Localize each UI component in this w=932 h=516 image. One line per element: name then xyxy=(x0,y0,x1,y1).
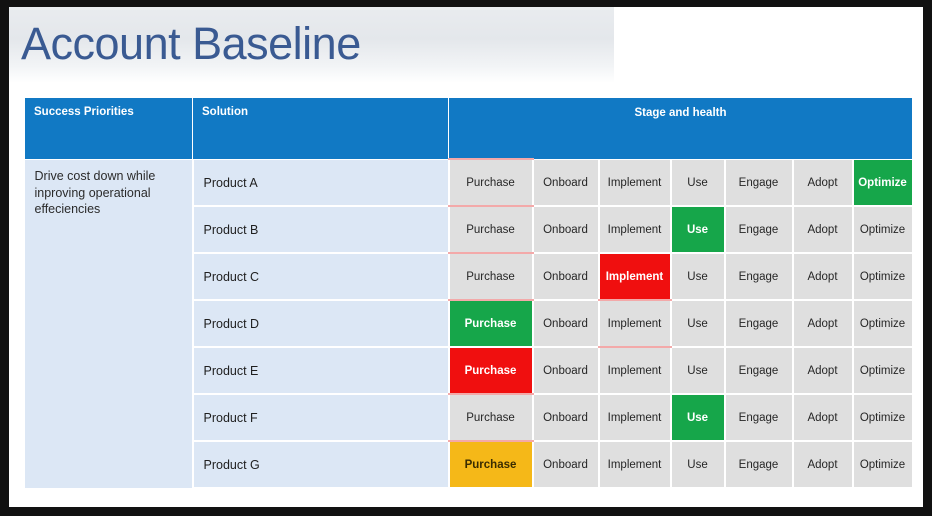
solution-cell[interactable]: Product G xyxy=(193,441,449,488)
stage-cell-use[interactable]: Use xyxy=(671,253,725,300)
stage-cell-adopt[interactable]: Adopt xyxy=(793,160,853,207)
stage-cell-implement[interactable]: Implement xyxy=(599,300,671,347)
account-baseline-table: Success Priorities Solution Stage and he… xyxy=(24,97,914,489)
stage-cell-onboard[interactable]: Onboard xyxy=(533,441,599,488)
stage-cell-adopt[interactable]: Adopt xyxy=(793,394,853,441)
solution-cell[interactable]: Product E xyxy=(193,347,449,394)
stage-cell-adopt[interactable]: Adopt xyxy=(793,253,853,300)
stage-cell-optimize[interactable]: Optimize xyxy=(853,300,913,347)
solution-cell[interactable]: Product D xyxy=(193,300,449,347)
stage-cell-use[interactable]: Use xyxy=(671,441,725,488)
solution-cell[interactable]: Product A xyxy=(193,160,449,207)
stage-cell-onboard[interactable]: Onboard xyxy=(533,300,599,347)
stage-cell-purchase[interactable]: Purchase xyxy=(449,160,533,207)
stage-cell-engage[interactable]: Engage xyxy=(725,347,793,394)
stage-cell-implement[interactable]: Implement xyxy=(599,206,671,253)
stage-cell-adopt[interactable]: Adopt xyxy=(793,441,853,488)
stage-cell-onboard[interactable]: Onboard xyxy=(533,206,599,253)
stage-cell-onboard[interactable]: Onboard xyxy=(533,160,599,207)
stage-cell-onboard[interactable]: Onboard xyxy=(533,253,599,300)
page-title: Account Baseline xyxy=(21,13,361,75)
stage-cell-engage[interactable]: Engage xyxy=(725,160,793,207)
stage-cell-optimize[interactable]: Optimize xyxy=(853,347,913,394)
stage-cell-adopt[interactable]: Adopt xyxy=(793,347,853,394)
stage-cell-optimize[interactable]: Optimize xyxy=(853,441,913,488)
stage-cell-purchase[interactable]: Purchase xyxy=(449,206,533,253)
stage-cell-optimize-green[interactable]: Optimize xyxy=(853,160,913,207)
table-row: Drive cost down while inproving operatio… xyxy=(25,160,913,207)
header-stage-and-health: Stage and health xyxy=(449,98,913,160)
stage-cell-implement[interactable]: Implement xyxy=(599,394,671,441)
stage-cell-engage[interactable]: Engage xyxy=(725,441,793,488)
stage-cell-engage[interactable]: Engage xyxy=(725,394,793,441)
stage-cell-onboard[interactable]: Onboard xyxy=(533,394,599,441)
stage-cell-use-green[interactable]: Use xyxy=(671,206,725,253)
stage-cell-use[interactable]: Use xyxy=(671,347,725,394)
stage-cell-engage[interactable]: Engage xyxy=(725,206,793,253)
solution-cell[interactable]: Product B xyxy=(193,206,449,253)
stage-cell-implement[interactable]: Implement xyxy=(599,441,671,488)
stage-cell-purchase-green[interactable]: Purchase xyxy=(449,300,533,347)
baseline-table-wrapper: Success Priorities Solution Stage and he… xyxy=(24,97,912,489)
stage-cell-optimize[interactable]: Optimize xyxy=(853,253,913,300)
header-row: Success Priorities Solution Stage and he… xyxy=(25,98,913,160)
stage-cell-use[interactable]: Use xyxy=(671,160,725,207)
solution-cell[interactable]: Product F xyxy=(193,394,449,441)
stage-cell-implement[interactable]: Implement xyxy=(599,347,671,394)
stage-cell-adopt[interactable]: Adopt xyxy=(793,300,853,347)
slide-canvas: Account Baseline Success Priorities xyxy=(9,7,923,507)
stage-cell-optimize[interactable]: Optimize xyxy=(853,206,913,253)
header-success-priorities: Success Priorities xyxy=(25,98,193,160)
stage-cell-engage[interactable]: Engage xyxy=(725,253,793,300)
stage-cell-purchase[interactable]: Purchase xyxy=(449,394,533,441)
table-body: Drive cost down while inproving operatio… xyxy=(25,160,913,489)
stage-cell-purchase[interactable]: Purchase xyxy=(449,253,533,300)
table-header: Success Priorities Solution Stage and he… xyxy=(25,98,913,160)
stage-cell-implement[interactable]: Implement xyxy=(599,160,671,207)
stage-cell-purchase-red[interactable]: Purchase xyxy=(449,347,533,394)
solution-cell[interactable]: Product C xyxy=(193,253,449,300)
stage-cell-onboard[interactable]: Onboard xyxy=(533,347,599,394)
stage-cell-purchase-amber[interactable]: Purchase xyxy=(449,441,533,488)
success-priority-cell: Drive cost down while inproving operatio… xyxy=(25,160,193,489)
slide-frame: Account Baseline Success Priorities xyxy=(0,0,932,516)
stage-cell-engage[interactable]: Engage xyxy=(725,300,793,347)
stage-cell-use-green[interactable]: Use xyxy=(671,394,725,441)
stage-cell-implement-red[interactable]: Implement xyxy=(599,253,671,300)
stage-cell-optimize[interactable]: Optimize xyxy=(853,394,913,441)
stage-cell-adopt[interactable]: Adopt xyxy=(793,206,853,253)
header-solution: Solution xyxy=(193,98,449,160)
stage-cell-use[interactable]: Use xyxy=(671,300,725,347)
